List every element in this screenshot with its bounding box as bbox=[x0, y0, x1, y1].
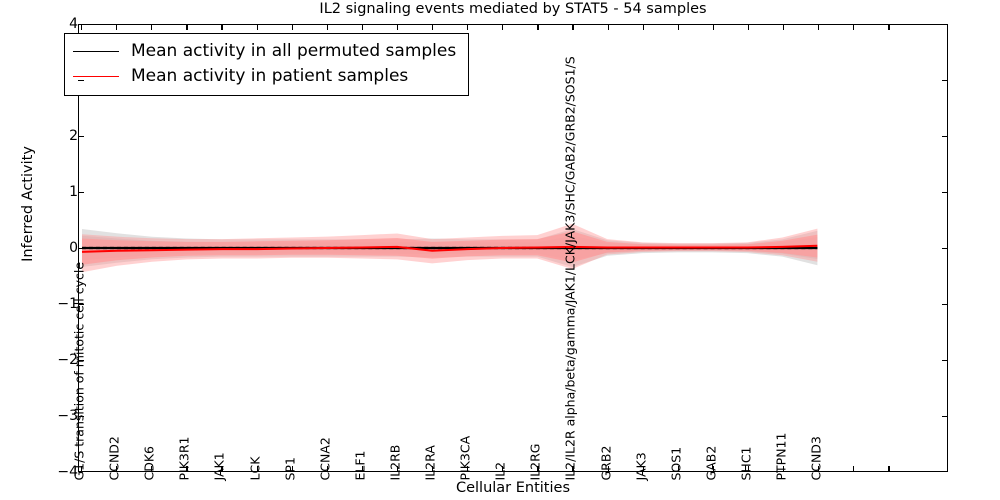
y-tick-label: 1 bbox=[48, 185, 78, 199]
y-tick-mark bbox=[78, 80, 84, 81]
y-tick-mark bbox=[942, 192, 948, 193]
x-tick-label: IL2RG bbox=[530, 444, 543, 481]
x-tick-mark bbox=[572, 24, 573, 30]
x-tick-label: SP1 bbox=[284, 457, 297, 480]
y-tick-label: 2 bbox=[48, 129, 78, 143]
y-tick-mark bbox=[78, 192, 84, 193]
y-tick-mark bbox=[942, 80, 948, 81]
x-tick-label: G1/S transition of mitotic cell cycle bbox=[74, 262, 87, 481]
x-tick-label: JAK1 bbox=[214, 452, 227, 480]
y-tick-mark bbox=[942, 136, 948, 137]
x-tick-label: LCK bbox=[249, 457, 262, 481]
x-tick-mark bbox=[257, 24, 258, 30]
x-tick-mark bbox=[678, 24, 679, 30]
y-tick-mark bbox=[942, 304, 948, 305]
y-tick-mark bbox=[78, 136, 84, 137]
y-tick-label: 0 bbox=[48, 241, 78, 255]
x-tick-mark bbox=[643, 24, 644, 30]
x-tick-label: IL2RB bbox=[389, 445, 402, 481]
x-tick-label: SHC1 bbox=[740, 446, 753, 480]
x-tick-mark bbox=[186, 24, 187, 30]
y-tick-mark bbox=[942, 416, 948, 417]
x-tick-mark bbox=[537, 24, 538, 30]
y-tick-mark bbox=[942, 360, 948, 361]
y-tick-label: 4 bbox=[48, 17, 78, 31]
x-tick-mark bbox=[292, 24, 293, 30]
x-tick-mark bbox=[853, 24, 854, 30]
legend-label-patient: Mean activity in patient samples bbox=[131, 68, 408, 85]
x-tick-label: IL2/IL2R alpha/beta/gamma/JAK1/LCK/JAK3/… bbox=[565, 56, 578, 480]
chart-legend: Mean activity in all permuted samples Me… bbox=[64, 33, 469, 96]
legend-line-patient-icon bbox=[73, 76, 119, 77]
x-tick-label: GRB2 bbox=[600, 446, 613, 481]
x-tick-mark bbox=[116, 24, 117, 30]
x-tick-label: CCND2 bbox=[109, 436, 122, 480]
x-tick-label: CDK6 bbox=[144, 446, 157, 481]
y-tick-mark bbox=[942, 248, 948, 249]
legend-label-permuted: Mean activity in all permuted samples bbox=[131, 43, 456, 60]
x-tick-mark bbox=[713, 24, 714, 30]
x-tick-label: ELF1 bbox=[354, 450, 367, 480]
y-tick-mark bbox=[78, 248, 84, 249]
x-tick-mark bbox=[397, 24, 398, 30]
x-tick-mark bbox=[81, 24, 82, 30]
x-tick-mark bbox=[818, 24, 819, 30]
x-tick-mark bbox=[362, 24, 363, 30]
x-tick-label: PIK3CA bbox=[460, 436, 473, 481]
x-tick-mark bbox=[467, 24, 468, 30]
chart-title: IL2 signaling events mediated by STAT5 -… bbox=[78, 1, 948, 17]
y-axis-label: Inferred Activity bbox=[20, 124, 36, 284]
x-tick-label: PTPN11 bbox=[776, 433, 789, 481]
x-tick-mark bbox=[221, 24, 222, 30]
x-tick-label: CCNA2 bbox=[319, 437, 332, 480]
x-tick-label: IL2 bbox=[495, 462, 508, 481]
legend-item-permuted: Mean activity in all permuted samples bbox=[73, 39, 456, 64]
legend-line-permuted-icon bbox=[73, 51, 119, 52]
x-tick-label: JAK3 bbox=[635, 452, 648, 480]
x-tick-mark bbox=[327, 24, 328, 30]
x-tick-mark bbox=[502, 24, 503, 30]
x-axis-label: Cellular Entities bbox=[78, 480, 948, 496]
legend-item-patient: Mean activity in patient samples bbox=[73, 64, 456, 89]
x-tick-mark bbox=[783, 24, 784, 30]
x-tick-mark bbox=[608, 24, 609, 30]
x-tick-mark bbox=[748, 24, 749, 30]
x-tick-mark bbox=[853, 466, 854, 472]
x-tick-label: GAB2 bbox=[705, 446, 718, 481]
x-tick-mark bbox=[151, 24, 152, 30]
x-tick-mark bbox=[432, 24, 433, 30]
x-tick-label: SOS1 bbox=[670, 447, 683, 481]
x-tick-label: PIK3R1 bbox=[179, 436, 192, 480]
x-tick-mark bbox=[888, 24, 889, 30]
x-tick-label: IL2RA bbox=[425, 445, 438, 480]
x-tick-mark bbox=[888, 466, 889, 472]
x-tick-label: CCND3 bbox=[811, 436, 824, 480]
